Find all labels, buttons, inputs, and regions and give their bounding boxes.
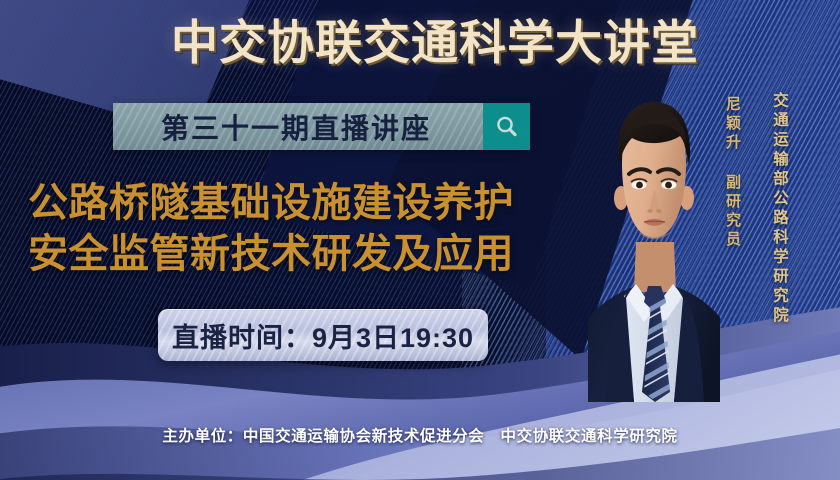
speaker-organization: 交通运输部公路科学研究院 (768, 92, 790, 372)
lecture-title-line-1: 公路桥隧基础设施建设养护 (28, 178, 588, 229)
lecture-title-line-2: 安全监管新技术研发及应用 (28, 229, 588, 280)
organizer-footer: 主办单位：中国交通运输协会新技术促进分会 中交协联交通科学研究院 (0, 424, 840, 446)
broadcast-time-badge: 直播时间：9月3日19:30 (158, 309, 488, 361)
search-button[interactable] (483, 103, 530, 150)
page-title: 中交协联交通科学大讲堂 (145, 18, 725, 69)
livestream-promo-poster: 中交协联交通科学大讲堂 第三十一期直播讲座 公路桥隧基础设施建设养护 安全监管新… (0, 0, 840, 480)
search-icon (494, 114, 520, 140)
session-search-bar[interactable]: 第三十一期直播讲座 (113, 103, 530, 150)
session-label: 第三十一期直播讲座 (113, 107, 483, 147)
speaker-name-and-title: 尼颖升 副研究员 (722, 96, 743, 296)
speaker-portrait (588, 92, 720, 402)
lecture-title: 公路桥隧基础设施建设养护 安全监管新技术研发及应用 (28, 178, 588, 280)
broadcast-time-label: 直播时间：9月3日19:30 (172, 316, 474, 355)
